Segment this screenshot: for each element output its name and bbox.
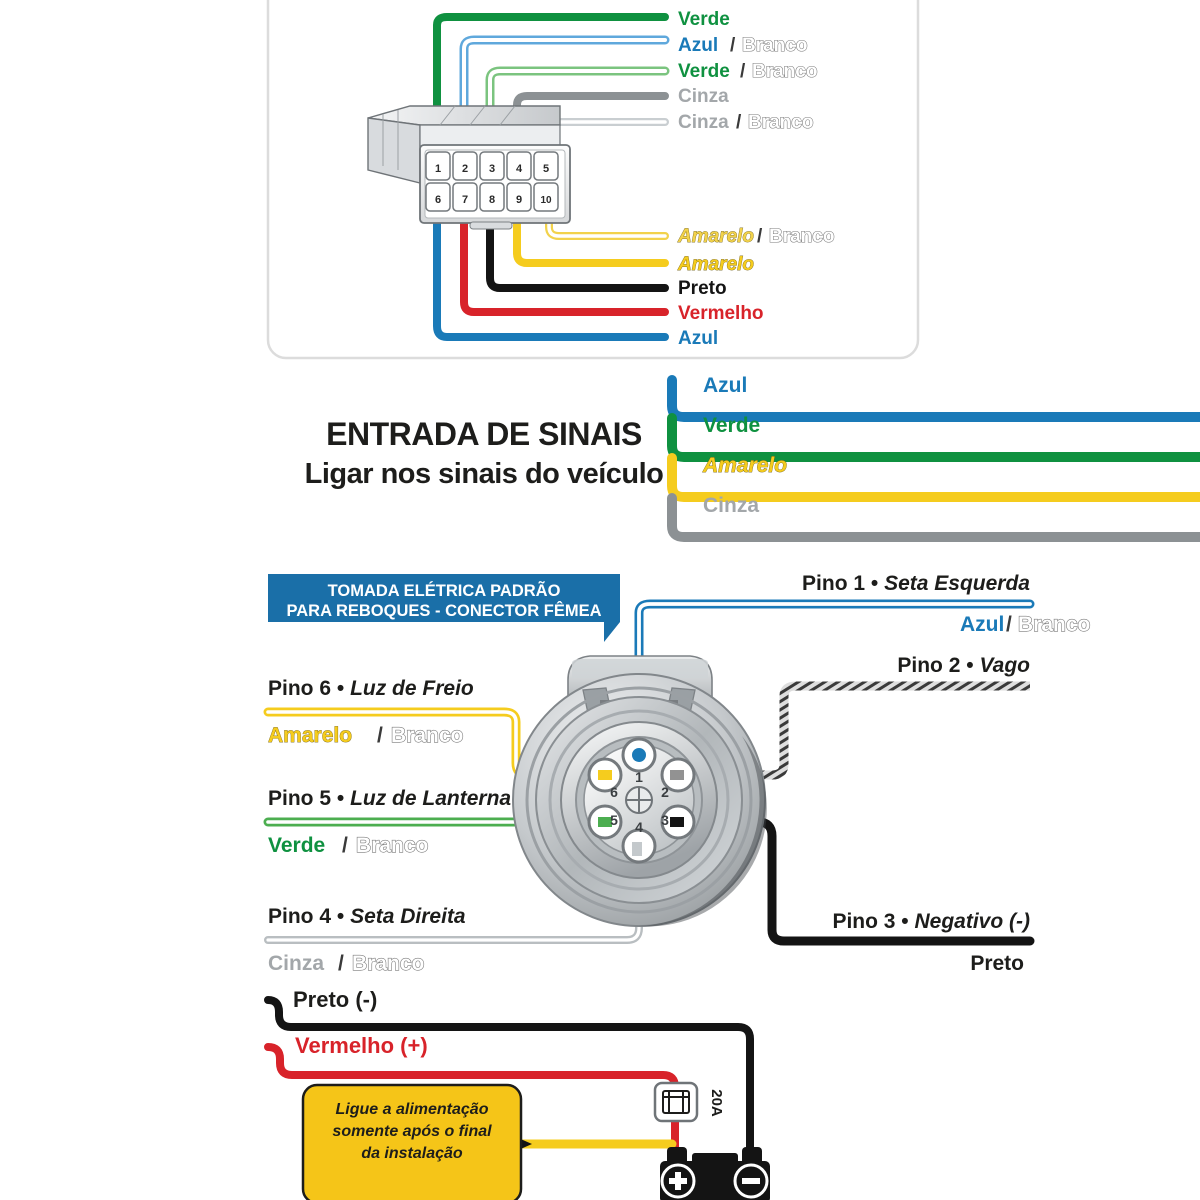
svg-text:Pino 4 • Seta Direita: Pino 4 • Seta Direita <box>268 905 466 928</box>
svg-text:Pino 5 • Luz de Lanterna: Pino 5 • Luz de Lanterna <box>268 787 511 810</box>
socket-pin-number: 3 <box>661 812 669 828</box>
pin-bullet: • <box>901 910 908 933</box>
signal-wire-label: Verde <box>703 414 760 437</box>
socket-pin-number: 1 <box>635 769 643 785</box>
pin-number: 8 <box>489 194 495 206</box>
pin-wire-sep: / <box>377 724 383 747</box>
wire-label-sep: / <box>736 112 742 133</box>
svg-text:Pino 3 • Negativo (-): Pino 3 • Negativo (-) <box>832 910 1030 933</box>
pin-title: Pino 2 <box>897 654 960 677</box>
wire-label-sub: Branco <box>752 61 817 82</box>
wire-label-main: Azul <box>678 328 718 349</box>
wire-label-cinza: Cinza <box>678 86 729 107</box>
connector-pins-top-row: 1 2 3 4 5 <box>426 152 558 180</box>
signal-wire-label: Amarelo <box>702 454 787 477</box>
pin-wire-main: Amarelo <box>268 724 352 747</box>
pin-wire-sub: Branco <box>1018 613 1090 636</box>
wire-label-main: Verde <box>678 9 730 30</box>
socket-pin-number: 6 <box>610 784 618 800</box>
signal-wire-label: Cinza <box>703 494 759 517</box>
wire-label-sub: Branco <box>769 226 834 247</box>
pin-title: Pino 5 <box>268 787 331 810</box>
pin-wire-main: Preto <box>970 952 1024 975</box>
banner-line1: TOMADA ELÉTRICA PADRÃO <box>328 580 561 600</box>
wire-label-sep: / <box>730 35 736 56</box>
signals-heading-line1: ENTRADA DE SINAIS <box>326 416 642 452</box>
wire-label-sep: / <box>757 226 763 247</box>
wire-label-sep: / <box>740 61 746 82</box>
pin-label-pino2: Pino 2 • Vago <box>897 654 1030 677</box>
pin-number: 7 <box>462 194 468 206</box>
pin-function: Seta Direita <box>350 905 466 928</box>
wire-label-main: Amarelo <box>677 226 754 247</box>
socket-pin-number: 2 <box>661 784 669 800</box>
pin-number: 3 <box>489 163 495 175</box>
pin-wire-main: Verde <box>268 834 325 857</box>
fuse-holder: 20A <box>655 1083 725 1121</box>
installation-note: Ligue a alimentação somente após o final… <box>303 1085 521 1200</box>
signals-heading-line2: Ligar nos sinais do veículo <box>305 458 664 490</box>
note-line-2: somente após o final <box>332 1123 492 1140</box>
pin-function: Vago <box>979 654 1030 677</box>
pin-function: Seta Esquerda <box>884 572 1030 595</box>
module-connector-card: 1 2 3 4 5 6 7 8 9 10 Ver <box>0 0 1200 380</box>
pin-wire-main: Azul <box>960 613 1004 636</box>
pin-title: Pino 6 <box>268 677 331 700</box>
wire-label-azul-branco: Azul / Branco <box>678 35 807 56</box>
pin-number: 10 <box>540 195 552 206</box>
pin-title: Pino 3 <box>832 910 895 933</box>
pin-bullet: • <box>337 787 344 810</box>
pin-number: 2 <box>462 163 468 175</box>
pin-number: 5 <box>543 163 549 175</box>
power-negative-label: Preto (-) <box>293 987 377 1012</box>
pin-number: 1 <box>435 163 441 175</box>
pin-wire-main: Cinza <box>268 952 324 975</box>
pin-function: Luz de Freio <box>350 677 474 700</box>
svg-text:Pino 1 • Seta Esquerda: Pino 1 • Seta Esquerda <box>802 572 1030 595</box>
note-pointer-wire <box>516 1137 672 1151</box>
wire-label-main: Azul <box>678 35 718 56</box>
wire-label-azul: Azul <box>678 328 718 349</box>
pin-wire-sub: Branco <box>356 834 428 857</box>
socket-section: TOMADA ELÉTRICA PADRÃO PARA REBOQUES - C… <box>0 560 1200 990</box>
pin-wire-sub: Branco <box>391 724 463 747</box>
socket-pin-number: 4 <box>635 819 643 835</box>
pin-function: Negativo (-) <box>915 910 1031 933</box>
pin-bullet: • <box>337 905 344 928</box>
wiring-diagram-page: 1 2 3 4 5 6 7 8 9 10 Ver <box>0 0 1200 1200</box>
connector-pins-bottom-row: 6 7 8 9 10 <box>426 183 558 211</box>
wire-label-main: Verde <box>678 61 730 82</box>
pin-wire-sep: / <box>1006 613 1012 636</box>
socket-banner: TOMADA ELÉTRICA PADRÃO PARA REBOQUES - C… <box>268 574 620 642</box>
signal-wire-azul: Azul <box>672 374 1200 417</box>
pin-wire-sep: / <box>338 952 344 975</box>
fuse-rating-label: 20A <box>708 1089 725 1117</box>
signal-wire-label: Azul <box>703 374 747 397</box>
wire-label-main: Amarelo <box>677 254 754 275</box>
pin-number: 9 <box>516 194 522 206</box>
pin-title: Pino 1 <box>802 572 865 595</box>
svg-text:Pino 6 • Luz de Freio: Pino 6 • Luz de Freio <box>268 677 474 700</box>
wire-label-verde: Verde <box>678 9 730 30</box>
banner-line2: PARA REBOQUES - CONECTOR FÊMEA <box>286 601 601 620</box>
wire-label-main: Vermelho <box>678 303 764 324</box>
wire-label-preto: Preto <box>678 278 727 299</box>
pin-bullet: • <box>966 654 973 677</box>
wire-label-amarelo: Amarelo <box>677 254 754 275</box>
battery <box>660 1147 770 1200</box>
wire-label-sub: Branco <box>748 112 813 133</box>
signals-section: ENTRADA DE SINAIS Ligar nos sinais do ve… <box>0 370 1200 560</box>
pin-number: 6 <box>435 194 441 206</box>
pin-bullet: • <box>871 572 878 595</box>
wire-label-main: Cinza <box>678 112 729 133</box>
pin-title: Pino 4 <box>268 905 331 928</box>
pin-function: Luz de Lanterna <box>350 787 511 810</box>
pin-number: 4 <box>516 163 523 175</box>
trailer-socket: 1 2 3 4 5 6 <box>513 656 767 926</box>
wire-label-main: Cinza <box>678 86 729 107</box>
card-border <box>268 0 918 358</box>
power-section: Preto (-) Vermelho (+) Ligue a alimentaç… <box>0 985 1200 1200</box>
wire-label-main: Preto <box>678 278 727 299</box>
wire-label-vermelho: Vermelho <box>678 303 764 324</box>
power-positive-label: Vermelho (+) <box>295 1033 428 1058</box>
pin-bullet: • <box>337 677 344 700</box>
socket-pin-number: 5 <box>610 812 618 828</box>
pin-wire-sub: Branco <box>352 952 424 975</box>
pin-wire-sep: / <box>342 834 348 857</box>
wire-label-sub: Branco <box>742 35 807 56</box>
note-line-3: da instalação <box>361 1145 463 1162</box>
svg-text:Pino 2 • Vago: Pino 2 • Vago <box>897 654 1030 677</box>
note-line-1: Ligue a alimentação <box>336 1101 489 1118</box>
